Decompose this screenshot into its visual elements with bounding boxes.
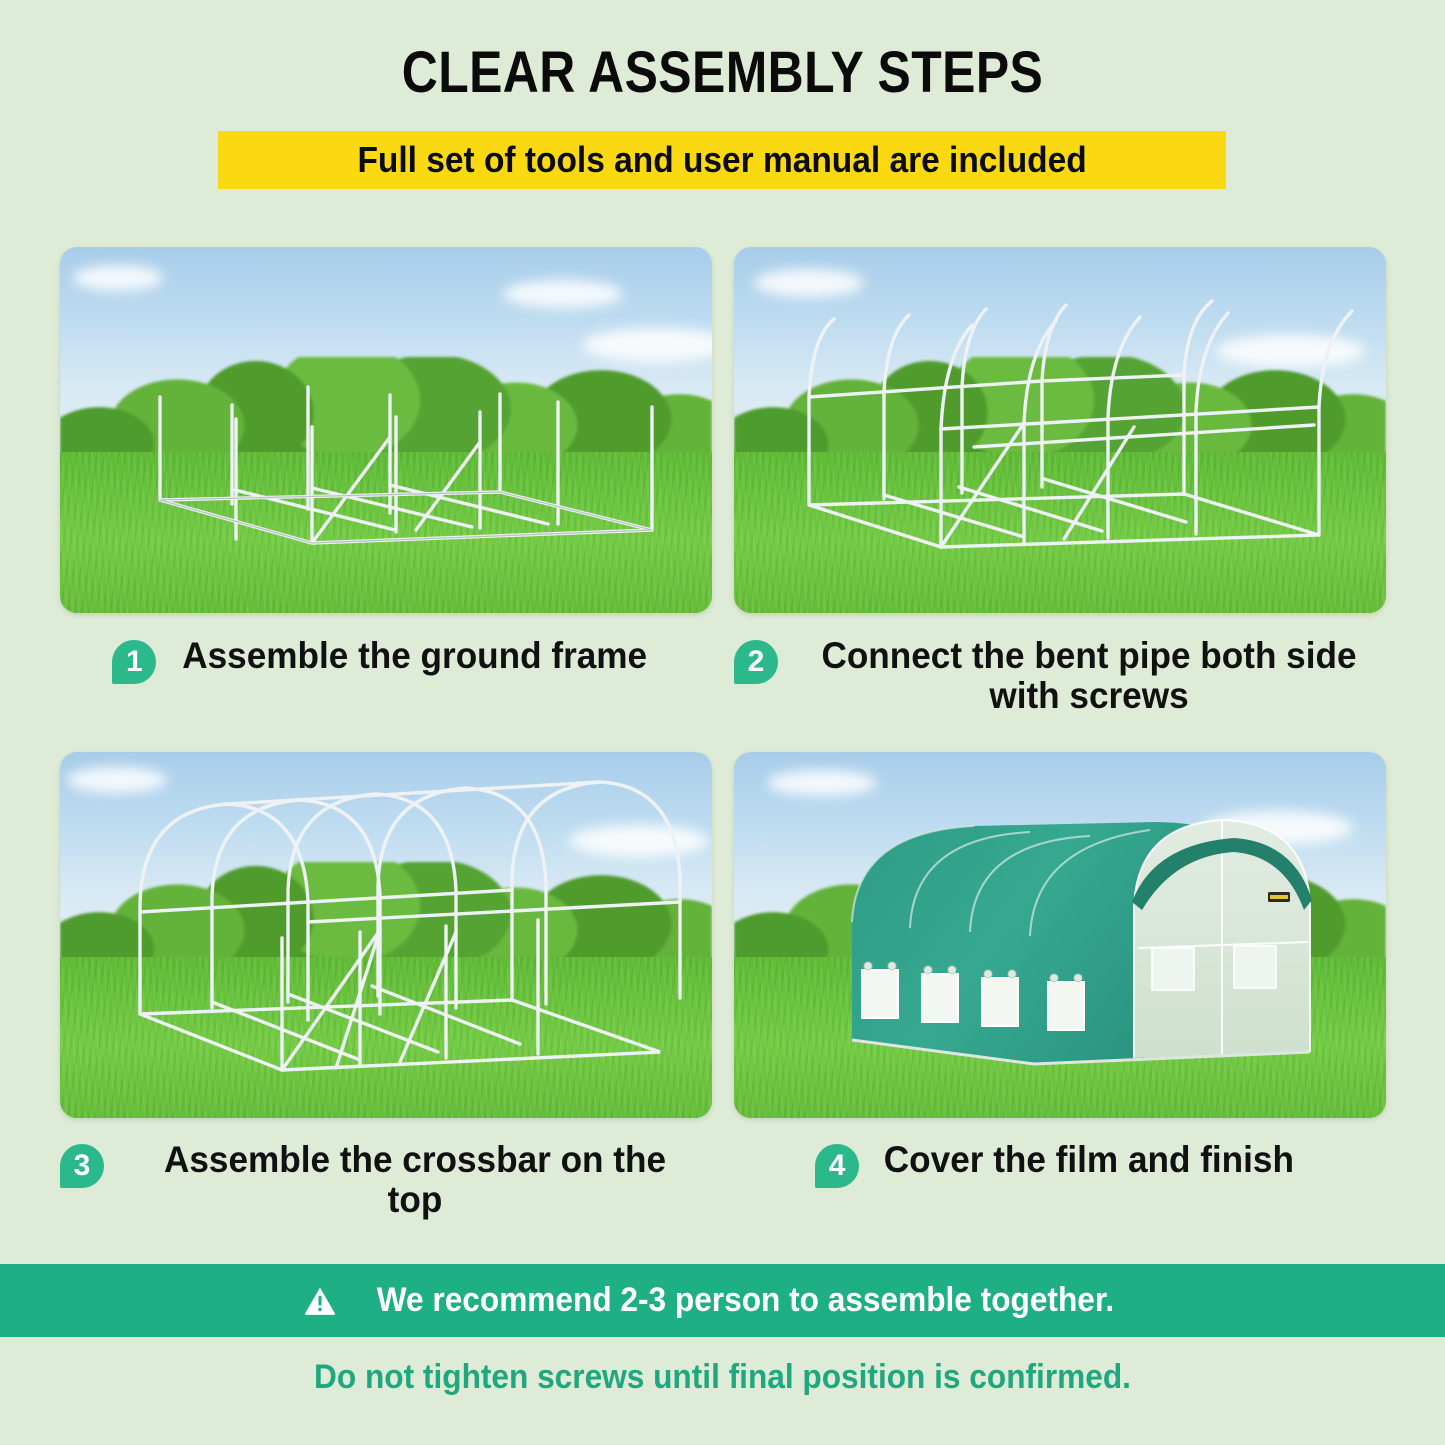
step-label: Cover the film and finish [884, 1140, 1294, 1180]
photo-ground-frame [60, 247, 712, 613]
recommendation-bar: We recommend 2-3 person to assemble toge… [0, 1264, 1445, 1337]
side-window [922, 974, 958, 1022]
greenhouse-cover-diagram [734, 752, 1386, 1118]
ground-frame-diagram [60, 247, 712, 613]
step-number-badge: 4 [815, 1144, 859, 1188]
photo-finished-greenhouse [734, 752, 1386, 1118]
step-2-image [734, 247, 1386, 613]
step-1-caption: 1 Assemble the ground frame [60, 636, 712, 684]
step-4-image [734, 752, 1386, 1118]
page-title: CLEAR ASSEMBLY STEPS [101, 42, 1344, 103]
side-window [1048, 982, 1084, 1030]
step-number-badge: 3 [60, 1144, 104, 1188]
step-4-caption: 4 Cover the film and finish [734, 1140, 1386, 1188]
door-window [1234, 946, 1276, 988]
warning-triangle-icon [303, 1284, 337, 1318]
step-2-caption: 2 Connect the bent pipe both side with s… [734, 636, 1386, 716]
step-label: Connect the bent pipe both side with scr… [807, 636, 1371, 716]
step-number-badge: 2 [734, 640, 778, 684]
arched-frame-diagram [60, 752, 712, 1118]
photo-crossbar-frame [60, 752, 712, 1118]
step-label: Assemble the ground frame [183, 636, 648, 676]
step-3-image [60, 752, 712, 1118]
step-label: Assemble the crossbar on the top [133, 1140, 697, 1220]
subtitle-text: Full set of tools and user manual are in… [357, 139, 1086, 181]
door-window [1152, 948, 1194, 990]
step-number-badge: 1 [112, 640, 156, 684]
step-1-image [60, 247, 712, 613]
side-window [862, 970, 898, 1018]
recommendation-text: We recommend 2-3 person to assemble toge… [377, 1281, 1114, 1320]
photo-bent-pipes [734, 247, 1386, 613]
step-3-caption: 3 Assemble the crossbar on the top [60, 1140, 712, 1220]
side-window [982, 978, 1018, 1026]
subtitle-highlight-banner: Full set of tools and user manual are in… [218, 131, 1226, 189]
assembly-steps-infographic: CLEAR ASSEMBLY STEPS Full set of tools a… [0, 0, 1445, 1445]
footer-note: Do not tighten screws until final positi… [51, 1358, 1395, 1397]
bent-pipe-frame-diagram [734, 247, 1386, 613]
